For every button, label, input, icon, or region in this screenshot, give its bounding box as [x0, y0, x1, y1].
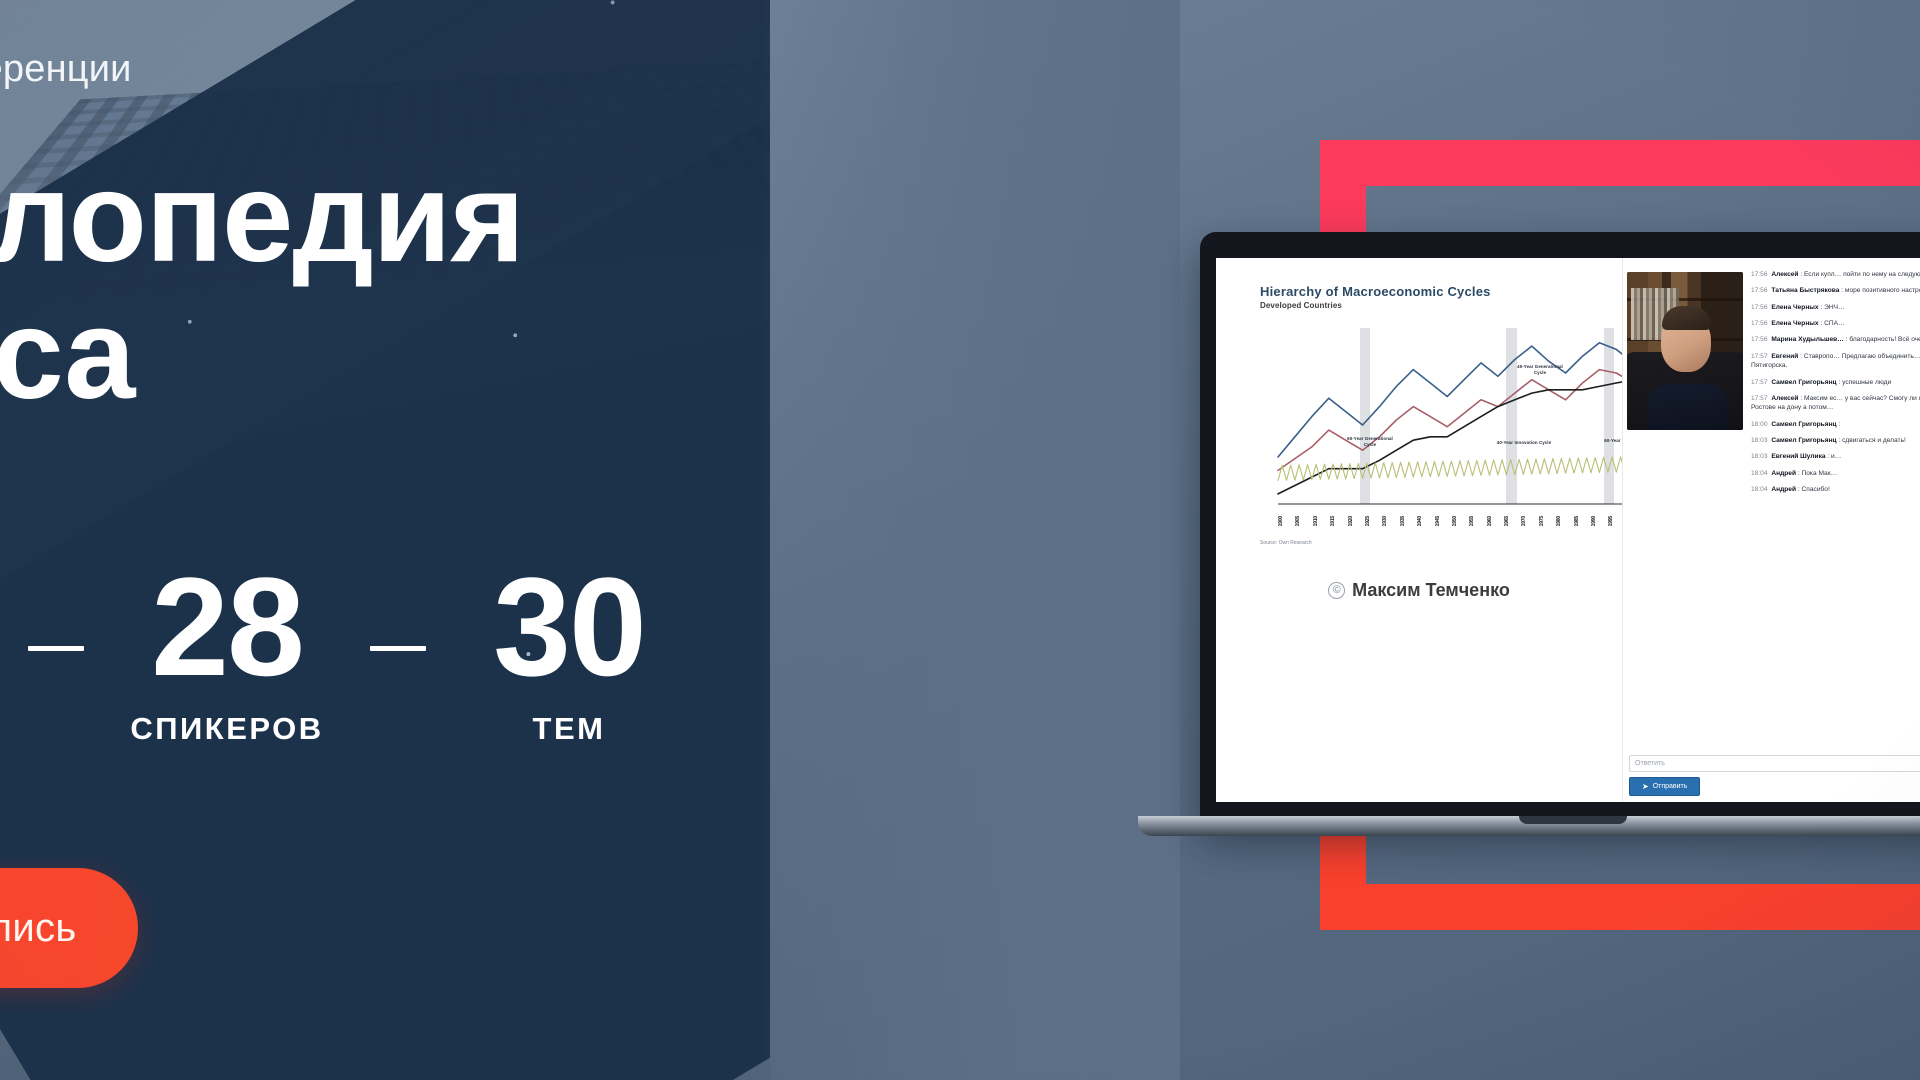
chat-message: 18:00 Самвел Григорьянц : — [1751, 420, 1920, 429]
chat-message-author: Елена Черных — [1771, 320, 1818, 327]
chat-message: 17:56 Татьяна Быстрякова : море позитивн… — [1751, 286, 1920, 295]
headline-line-1: циклопедия — [0, 146, 524, 289]
chart-x-tick: 1900 — [1278, 516, 1284, 526]
chart-x-tick: 1980 — [1556, 516, 1562, 526]
stat-label: ТЕМ — [454, 711, 684, 747]
chart-x-tick: 1945 — [1435, 516, 1441, 526]
chat-message-author: Елена Черных — [1771, 304, 1818, 311]
chat-message-time: 17:56 — [1751, 271, 1769, 278]
stat-label: СПИКЕРОВ — [112, 711, 342, 747]
chat-message-author: Марина Худыльшев… — [1771, 336, 1844, 343]
chart-svg — [1260, 328, 1622, 510]
copyright-icon: © — [1328, 582, 1345, 599]
chart-series-1 — [1278, 356, 1622, 470]
chat-message: 17:57 Евгений : Ставропо… Предлагаю объе… — [1751, 352, 1920, 371]
presenter-credit: © Максим Темченко — [1216, 580, 1622, 601]
chart-x-tick: 1920 — [1348, 516, 1354, 526]
chat-message-time: 17:57 — [1751, 353, 1769, 360]
chat-message-time: 17:57 — [1751, 379, 1769, 386]
chat-message-time: 18:03 — [1751, 453, 1769, 460]
chat-message-text: : Спасибо! — [1796, 486, 1830, 493]
chat-message: 18:04 Андрей : Пока Мак… — [1751, 469, 1920, 478]
chat-message-time: 18:03 — [1751, 437, 1769, 444]
chat-message-text: : ЭНЧ… — [1819, 304, 1845, 311]
chat-send-label: Отправить — [1653, 783, 1688, 790]
chart-annotation-0: 60-Year Generational Cycle — [1342, 436, 1398, 447]
chat-message-author: Алексей — [1771, 395, 1798, 402]
chart-series-group — [1278, 339, 1622, 494]
chat-message-text: : благодарность! Всё оче… — [1844, 336, 1920, 343]
stats-row: 0 28 СПИКЕРОВ 30 ТЕМ — [0, 560, 684, 747]
chat-message-time: 17:56 — [1751, 320, 1769, 327]
chart-source-note: Source: Own Research — [1260, 540, 1312, 546]
stat-value: 28 — [112, 560, 342, 693]
chat-message-author: Евгений Шулика — [1771, 453, 1825, 460]
chat-message-time: 17:56 — [1751, 336, 1769, 343]
chart-band-1945 — [1506, 328, 1517, 504]
presenter-hair — [1662, 306, 1711, 330]
chart-plot-area: 60-Year Generational Cycle 40-Year Gener… — [1260, 328, 1622, 524]
laptop-mockup: Hierarchy of Macroeconomic Cycles Develo… — [1178, 232, 1920, 852]
chat-message-author: Самвел Григорьянц — [1771, 379, 1836, 386]
chart-x-tick: 1915 — [1330, 516, 1336, 526]
chat-message-text: : успешные люди — [1837, 379, 1892, 386]
chat-message-time: 18:04 — [1751, 486, 1769, 493]
chart-x-tick: 1995 — [1608, 516, 1614, 526]
chart-x-tick: 1950 — [1452, 516, 1458, 526]
webinar-sidebar: 17:56 Алексей : Если купл… пойти по нему… — [1622, 258, 1920, 802]
chart-x-tick: 1990 — [1591, 516, 1597, 526]
webinar-slide: Hierarchy of Macroeconomic Cycles Develo… — [1216, 258, 1622, 802]
chart-band-1914 — [1360, 328, 1370, 504]
chat-message-author: Самвел Григорьянц — [1771, 437, 1836, 444]
laptop-base-notch — [1519, 816, 1627, 824]
chat-message: 18:03 Самвел Григорьянц : сдвигаться и д… — [1751, 436, 1920, 445]
macro-cycles-chart: Hierarchy of Macroeconomic Cycles Develo… — [1260, 284, 1622, 552]
landing-hero-stage: нлайн-конференции циклопедия внеса 0 28 … — [0, 0, 1920, 1080]
hero-kicker: нлайн-конференции — [0, 48, 132, 91]
chat-message: 17:56 Елена Черных : ЭНЧ… — [1751, 303, 1920, 312]
chat-send-button[interactable]: ➤ Отправить — [1629, 777, 1700, 796]
chart-x-tick: 1975 — [1539, 516, 1545, 526]
chart-x-tick: 1905 — [1295, 516, 1301, 526]
chat-message-time: 17:57 — [1751, 395, 1769, 402]
chart-title: Hierarchy of Macroeconomic Cycles — [1260, 284, 1622, 299]
chart-x-tick: 1970 — [1521, 516, 1527, 526]
chart-series-0 — [1278, 339, 1622, 457]
chat-message-author: Татьяна Быстрякова — [1771, 287, 1839, 294]
chart-x-tick: 1955 — [1469, 516, 1475, 526]
chart-x-tick: 1960 — [1487, 516, 1493, 526]
chat-message-time: 18:00 — [1751, 421, 1769, 428]
stat-separator — [370, 646, 426, 651]
chat-message: 17:56 Елена Черных : СПА… — [1751, 319, 1920, 328]
chat-message-author: Самвел Григорьянц — [1771, 421, 1836, 428]
stat-value: 30 — [454, 560, 684, 693]
chat-message-time: 18:04 — [1751, 470, 1769, 477]
chart-annotation-2: 40-Year Innovation Cycle — [1496, 440, 1552, 446]
chart-footnotes: Source: Own Research www.devisioncpm.com — [1260, 540, 1622, 546]
chat-message-author: Андрей — [1771, 486, 1796, 493]
chart-x-axis-labels: 1900190519101915192019251930193519401945… — [1278, 516, 1622, 526]
paper-plane-icon: ➤ — [1642, 783, 1649, 791]
hero-copy: нлайн-конференции циклопедия внеса 0 28 … — [0, 0, 950, 1080]
presenter-webcam-video[interactable] — [1627, 272, 1743, 430]
chat-reply-input[interactable]: Ответить — [1629, 755, 1920, 772]
laptop-lid: Hierarchy of Macroeconomic Cycles Develo… — [1200, 232, 1920, 824]
watch-recording-button[interactable]: отреть запись — [0, 868, 138, 988]
stat-item-speakers: 28 СПИКЕРОВ — [112, 560, 342, 747]
stat-separator — [28, 646, 84, 651]
chat-message: 17:57 Алексей : Максим ес… у вас сейчас?… — [1751, 394, 1920, 413]
chat-message: 18:03 Евгений Шулика : и… — [1751, 452, 1920, 461]
page-title: циклопедия внеса — [0, 150, 970, 424]
chart-x-tick: 1985 — [1574, 516, 1580, 526]
chat-message-author: Алексей — [1771, 271, 1798, 278]
chart-x-tick: 1965 — [1504, 516, 1510, 526]
chat-message-time: 17:56 — [1751, 287, 1769, 294]
chart-annotation-1: 40-Year Generational Cycle — [1512, 364, 1568, 375]
chat-message-text: : СПА… — [1819, 320, 1845, 327]
chat-message: 17:56 Марина Худыльшев… : благодарность!… — [1751, 335, 1920, 344]
chat-message-text: : море позитивного настро… — [1839, 287, 1920, 294]
chat-compose-area: Ответить ➤ Отправить — [1629, 751, 1920, 796]
headline-line-2: внеса — [0, 287, 970, 424]
chart-x-tick: 1935 — [1400, 516, 1406, 526]
chat-message-text: : сдвигаться и делать! — [1837, 437, 1906, 444]
presenter-torso — [1647, 384, 1729, 430]
chart-x-tick: 1930 — [1382, 516, 1388, 526]
chart-subtitle: Developed Countries — [1260, 301, 1622, 310]
chat-message-list[interactable]: 17:56 Алексей : Если купл… пойти по нему… — [1743, 258, 1920, 802]
chat-message-author: Евгений — [1771, 353, 1798, 360]
chart-x-tick: 1940 — [1417, 516, 1423, 526]
chat-message-text: : Если купл… пойти по нему на следую… — [1798, 271, 1920, 278]
chat-message: 18:04 Андрей : Спасибо! — [1751, 485, 1920, 494]
chart-x-tick: 1910 — [1313, 516, 1319, 526]
chat-message-time: 17:56 — [1751, 304, 1769, 311]
chat-message-text: : — [1837, 421, 1841, 428]
chat-message-author: Андрей — [1771, 470, 1796, 477]
chart-annotation-3: 60-Year Second-Level Cycle — [1600, 438, 1622, 449]
chart-x-tick: 1925 — [1365, 516, 1371, 526]
chart-band-1980 — [1604, 328, 1614, 504]
presenter-name: Максим Темченко — [1352, 580, 1510, 601]
stat-item-topics: 30 ТЕМ — [454, 560, 684, 747]
chat-message-text: : Пока Мак… — [1796, 470, 1837, 477]
laptop-screen: Hierarchy of Macroeconomic Cycles Develo… — [1216, 258, 1920, 802]
chat-message: 17:57 Самвел Григорьянц : успешные люди — [1751, 378, 1920, 387]
chat-message: 17:56 Алексей : Если купл… пойти по нему… — [1751, 270, 1920, 279]
chat-message-text: : и… — [1826, 453, 1842, 460]
